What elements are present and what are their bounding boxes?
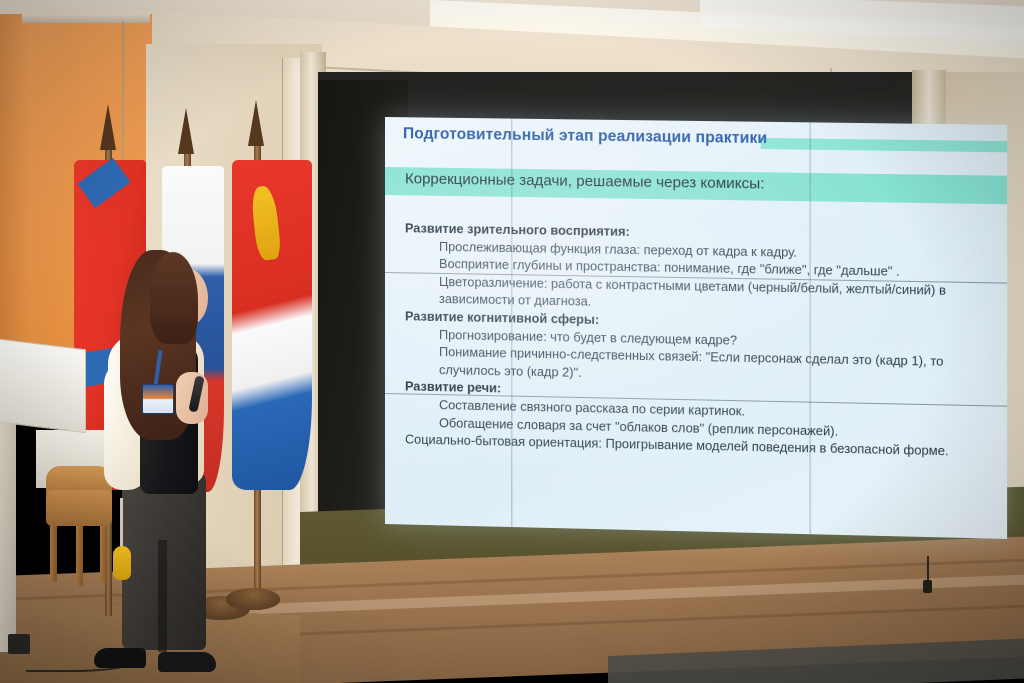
slide-title: Подготовительный этап реализации практик…	[403, 125, 767, 148]
flag-finial-icon	[248, 100, 264, 146]
chair-leg	[76, 524, 83, 586]
child-chair-seat	[46, 490, 112, 526]
slide-accent-bar-top	[761, 138, 1008, 152]
presenter-hair-front	[150, 252, 198, 344]
window-blind-rail	[22, 14, 150, 23]
tiger-emblem-icon	[250, 185, 282, 261]
clicker-cord	[120, 498, 123, 550]
orange-wall-shadow	[0, 14, 28, 354]
presenter-shoe	[94, 648, 146, 668]
presentation-clicker[interactable]	[113, 546, 131, 580]
primorsky-krai-flag	[232, 160, 312, 490]
wall-seam-overlay-vertical	[810, 122, 811, 534]
flag-stripe	[77, 158, 130, 208]
room-scene: Подготовительный этап реализации практик…	[0, 0, 1024, 683]
chair-leg	[100, 520, 107, 582]
flag-stand-base	[226, 588, 280, 610]
wall-seam-overlay-vertical	[511, 119, 512, 527]
chair-leg	[50, 520, 57, 582]
presenter-shoe	[158, 652, 216, 672]
projected-slide: Подготовительный этап реализации практик…	[385, 117, 1007, 539]
slide-body: Развитие зрительного восприятия: Прослеж…	[405, 220, 995, 462]
flag-finial-icon	[100, 104, 116, 150]
flag-finial-icon	[178, 108, 194, 154]
presenter-badge	[142, 384, 174, 414]
projector-cable-connector	[923, 580, 932, 593]
presenter-leg-gap	[158, 540, 167, 652]
white-cabinet	[0, 338, 86, 433]
